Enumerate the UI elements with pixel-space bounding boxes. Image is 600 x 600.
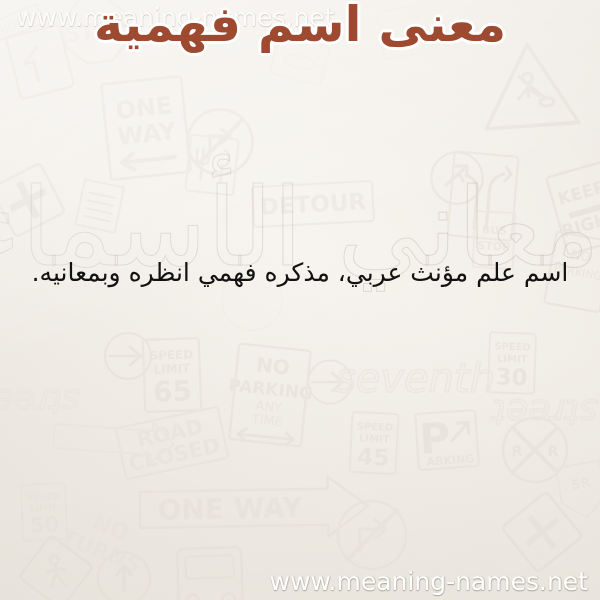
name-meaning-text: اسم علم مؤنث عربي، مذكره فهمي انظره وبمع… xyxy=(0,258,600,287)
name-meaning-image: RIGHT ON xyxy=(0,0,600,600)
background-base xyxy=(0,0,600,600)
page-title: معنى اسم فهمية xyxy=(0,0,600,53)
